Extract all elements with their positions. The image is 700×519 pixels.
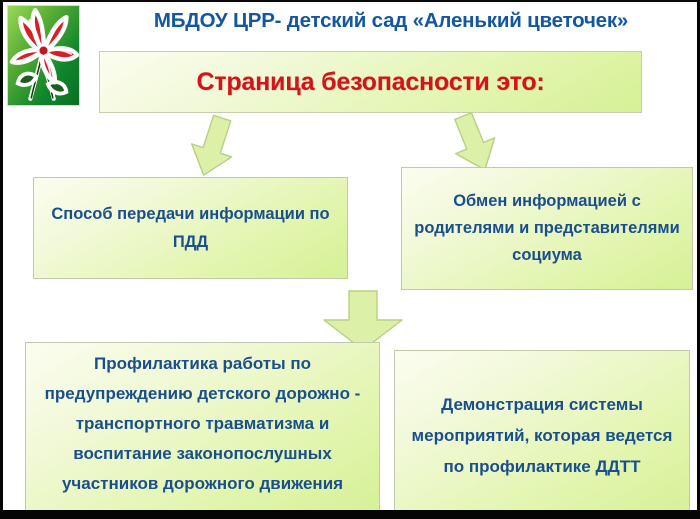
slide-canvas: МБДОУ ЦРР- детский сад «Аленький цветоче… bbox=[0, 0, 700, 519]
arrow-down-right-icon bbox=[443, 112, 505, 174]
flow-box-exchange-info: Обмен информацией с родителями и предста… bbox=[401, 167, 693, 290]
scarlet-flower-logo bbox=[7, 5, 80, 106]
flow-box-label: Способ передачи информации по ПДД bbox=[34, 200, 347, 256]
flow-box-label: Профилактика работы по предупреждению де… bbox=[26, 349, 379, 499]
flow-box-demonstration: Демонстрация системы мероприятий, котора… bbox=[394, 350, 690, 519]
flow-box-label: Демонстрация системы мероприятий, котора… bbox=[395, 389, 689, 482]
banner-title: Страница безопасности это: bbox=[100, 68, 641, 97]
banner-box: Страница безопасности это: bbox=[99, 51, 642, 113]
flow-box-label: Обмен информацией с родителями и предста… bbox=[402, 188, 692, 269]
page-title: МБДОУ ЦРР- детский сад «Аленький цветоче… bbox=[87, 6, 695, 38]
flow-box-transfer-info: Способ передачи информации по ПДД bbox=[33, 177, 348, 279]
flow-box-prevention-work: Профилактика работы по предупреждению де… bbox=[25, 342, 380, 519]
arrow-down-left-icon bbox=[181, 114, 241, 178]
